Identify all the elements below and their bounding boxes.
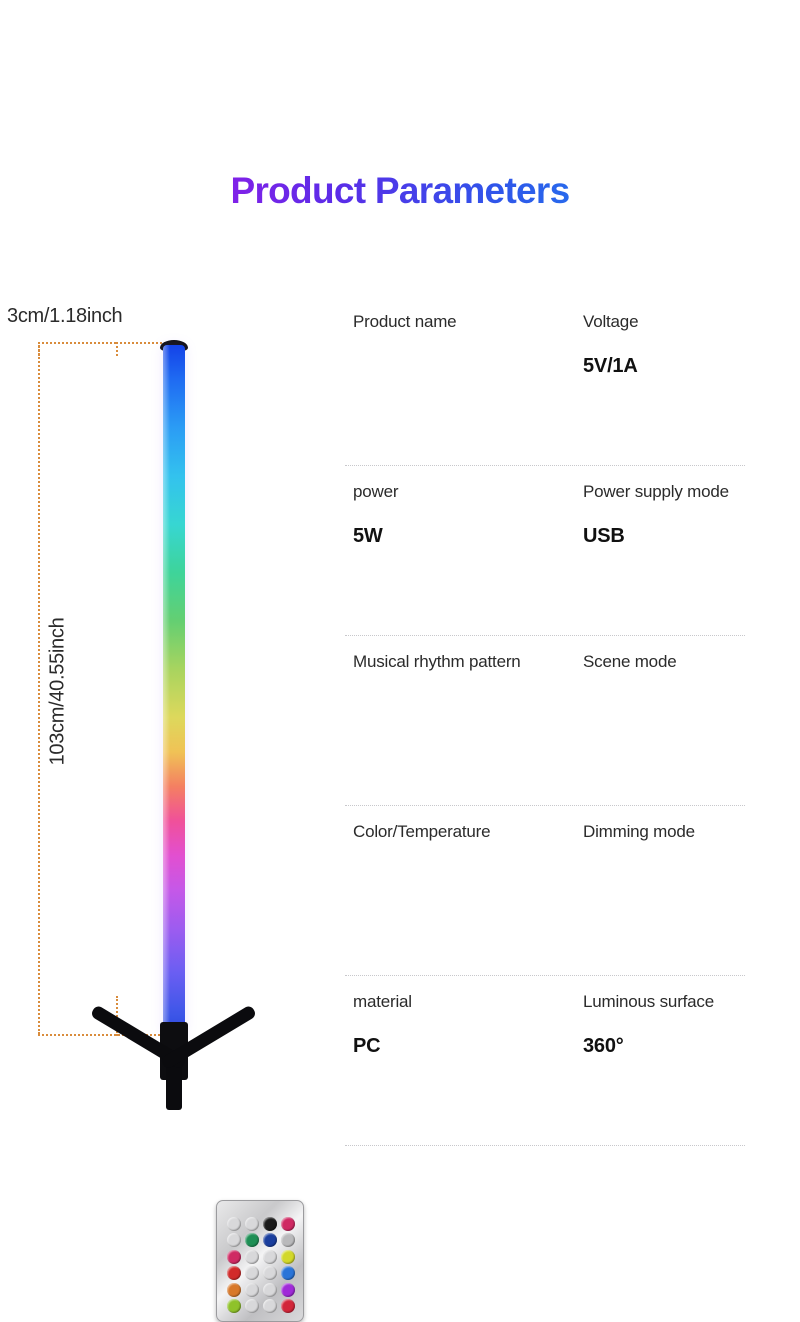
- spec-value: [353, 332, 578, 333]
- lamp-tube-highlight: [163, 345, 170, 1035]
- remote-key-14[interactable]: [245, 1266, 259, 1280]
- spec-label: power: [353, 482, 578, 502]
- remote-key-12[interactable]: [281, 1250, 295, 1264]
- page-title: Product Parameters: [0, 172, 800, 209]
- remote-key-2[interactable]: [245, 1217, 259, 1231]
- remote-key-5[interactable]: [227, 1233, 241, 1247]
- remote-key-10[interactable]: [245, 1250, 259, 1264]
- remote-key-17[interactable]: [227, 1283, 241, 1297]
- remote-key-4[interactable]: [281, 1217, 295, 1231]
- remote-key-1[interactable]: [227, 1217, 241, 1231]
- remote-key-20[interactable]: [281, 1283, 295, 1297]
- spec-label: Scene mode: [583, 652, 758, 672]
- table-row: power 5W Power supply mode USB: [345, 466, 745, 636]
- spec-cell-power-supply-mode: Power supply mode USB: [583, 482, 758, 548]
- spec-label: Voltage: [583, 312, 758, 332]
- spec-value: USB: [583, 524, 758, 548]
- remote-key-18[interactable]: [245, 1283, 259, 1297]
- remote-key-8[interactable]: [281, 1233, 295, 1247]
- spec-cell-musical-rhythm-pattern: Musical rhythm pattern: [353, 652, 578, 673]
- table-row: Color/Temperature Dimming mode: [345, 806, 745, 976]
- spec-cell-scene-mode: Scene mode: [583, 652, 758, 673]
- spec-cell-luminous-surface: Luminous surface 360°: [583, 992, 758, 1058]
- dimension-guide-width-tick: [116, 342, 118, 356]
- remote-key-3[interactable]: [263, 1217, 277, 1231]
- spec-label: Luminous surface: [583, 992, 758, 1012]
- dimension-label-height: 103cm/40.55inch: [47, 592, 70, 792]
- ir-remote-control[interactable]: [216, 1200, 304, 1322]
- remote-key-19[interactable]: [263, 1283, 277, 1297]
- spec-cell-material: material PC: [353, 992, 578, 1058]
- spec-cell-power: power 5W: [353, 482, 578, 548]
- spec-value: [353, 672, 578, 673]
- spec-value: [583, 842, 758, 843]
- spec-table: Product name Voltage 5V/1A power 5W Powe…: [345, 296, 745, 1146]
- remote-key-24[interactable]: [281, 1299, 295, 1313]
- table-row: Musical rhythm pattern Scene mode: [345, 636, 745, 806]
- remote-key-22[interactable]: [245, 1299, 259, 1313]
- remote-key-13[interactable]: [227, 1266, 241, 1280]
- spec-cell-dimming-mode: Dimming mode: [583, 822, 758, 843]
- lamp-tripod-base: [0, 1040, 330, 1170]
- lamp-light-tube: [163, 345, 185, 1035]
- spec-value: [353, 842, 578, 843]
- spec-cell-product-name: Product name: [353, 312, 578, 333]
- table-row: Product name Voltage 5V/1A: [345, 296, 745, 466]
- remote-key-11[interactable]: [263, 1250, 277, 1264]
- spec-label: Power supply mode: [583, 482, 758, 502]
- spec-label: material: [353, 992, 578, 1012]
- spec-value: 360°: [583, 1034, 758, 1058]
- spec-value: 5V/1A: [583, 354, 758, 378]
- spec-label: Product name: [353, 312, 578, 332]
- spec-value: PC: [353, 1034, 578, 1058]
- remote-key-7[interactable]: [263, 1233, 277, 1247]
- dimension-guide-top: [38, 342, 116, 344]
- spec-value: [583, 672, 758, 673]
- remote-key-6[interactable]: [245, 1233, 259, 1247]
- spec-value: 5W: [353, 524, 578, 548]
- table-row: material PC Luminous surface 360°: [345, 976, 745, 1146]
- remote-key-21[interactable]: [227, 1299, 241, 1313]
- remote-key-15[interactable]: [263, 1266, 277, 1280]
- spec-label: Color/Temperature: [353, 822, 578, 842]
- spec-label: Dimming mode: [583, 822, 758, 842]
- dimension-guide-height: [38, 342, 40, 1034]
- product-photo: 3cm/1.18inch 103cm/40.55inch: [0, 280, 330, 1140]
- remote-keypad[interactable]: [225, 1216, 297, 1314]
- remote-key-9[interactable]: [227, 1250, 241, 1264]
- dimension-guide-bottom: [38, 1034, 180, 1036]
- spec-cell-voltage: Voltage 5V/1A: [583, 312, 758, 378]
- spec-label: Musical rhythm pattern: [353, 652, 578, 672]
- remote-key-16[interactable]: [281, 1266, 295, 1280]
- dimension-label-width: 3cm/1.18inch: [7, 305, 122, 328]
- spec-cell-color-temperature: Color/Temperature: [353, 822, 578, 843]
- remote-key-23[interactable]: [263, 1299, 277, 1313]
